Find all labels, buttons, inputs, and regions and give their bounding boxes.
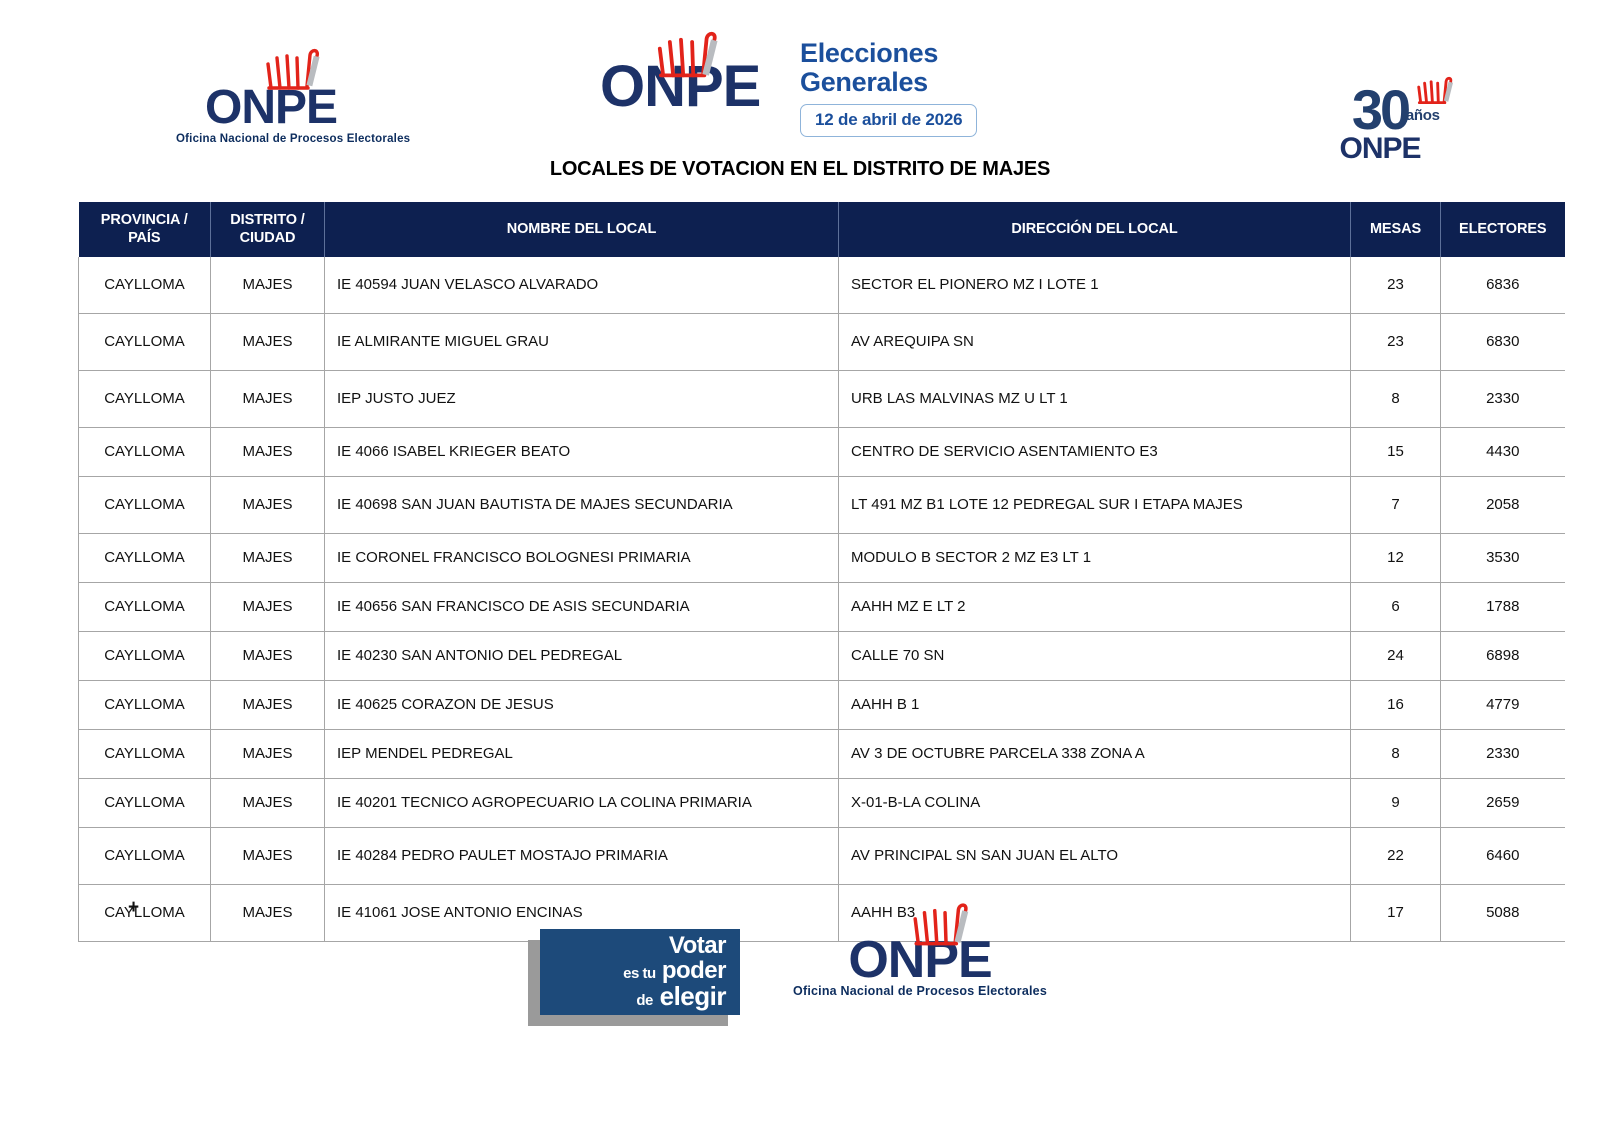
onpe-logo-text: ONPE — [205, 84, 337, 132]
slogan-block: Votar es tu poder de elegir — [540, 929, 740, 1015]
cell-provincia: CAYLLOMA — [79, 476, 211, 533]
slogan-line-2: es tu poder — [623, 959, 726, 983]
cell-mesas: 12 — [1351, 533, 1441, 582]
cell-distrito: MAJES — [211, 680, 325, 729]
cell-nombre-local: IE CORONEL FRANCISCO BOLOGNESI PRIMARIA — [325, 533, 839, 582]
cell-electores: 4430 — [1441, 427, 1565, 476]
election-info: Elecciones Generales 12 de abril de 2026 — [800, 37, 977, 137]
onpe-hand-icon — [261, 44, 331, 90]
slogan-line-3-big: elegir — [660, 981, 726, 1011]
cell-nombre-local: IE 40656 SAN FRANCISCO DE ASIS SECUNDARI… — [325, 582, 839, 631]
cell-provincia: CAYLLOMA — [79, 778, 211, 827]
cell-nombre-local: IE 40201 TECNICO AGROPECUARIO LA COLINA … — [325, 778, 839, 827]
cell-direccion-local: AV PRINCIPAL SN SAN JUAN EL ALTO — [839, 827, 1351, 884]
election-date-badge: 12 de abril de 2026 — [800, 104, 977, 137]
column-header-distrito-line2: CIUDAD — [212, 230, 323, 247]
cell-electores: 2330 — [1441, 370, 1565, 427]
onpe-wordmark-footer: ONPE — [848, 934, 991, 986]
table-row[interactable]: CAYLLOMAMAJESIE 40698 SAN JUAN BAUTISTA … — [79, 476, 1565, 533]
cell-direccion-local: CALLE 70 SN — [839, 631, 1351, 680]
onpe-30-anniversary-logo: 30 años ONPE — [1300, 82, 1460, 166]
column-header-nombre-local[interactable]: NOMBRE DEL LOCAL — [325, 202, 839, 257]
table-row[interactable]: CAYLLOMAMAJESIE 40625 CORAZON DE JESUSAA… — [79, 680, 1565, 729]
cell-mesas: 8 — [1351, 370, 1441, 427]
onpe-logo-subtitle: Oficina Nacional de Procesos Electorales — [176, 133, 366, 145]
cell-mesas: 15 — [1351, 427, 1441, 476]
cell-provincia: CAYLLOMA — [79, 370, 211, 427]
cell-mesas: 9 — [1351, 778, 1441, 827]
column-header-distrito-line1: DISTRITO / — [212, 212, 323, 229]
column-header-direccion-local[interactable]: DIRECCIÓN DEL LOCAL — [839, 202, 1351, 257]
cell-provincia: CAYLLOMA — [79, 533, 211, 582]
cell-distrito: MAJES — [211, 257, 325, 313]
cell-direccion-local: AV 3 DE OCTUBRE PARCELA 338 ZONA A — [839, 729, 1351, 778]
anniversary-number-group: 30 años — [1352, 82, 1408, 138]
cell-mesas: 16 — [1351, 680, 1441, 729]
page-header: ONPE Oficina Nacional de Procesos Electo… — [0, 0, 1600, 150]
cell-mesas: 8 — [1351, 729, 1441, 778]
onpe-hand-icon — [908, 898, 980, 946]
table-row[interactable]: CAYLLOMAMAJESIE 40656 SAN FRANCISCO DE A… — [79, 582, 1565, 631]
cell-electores: 2058 — [1441, 476, 1565, 533]
table-row[interactable]: CAYLLOMAMAJESIE 40594 JUAN VELASCO ALVAR… — [79, 257, 1565, 313]
cell-nombre-local: IE 40284 PEDRO PAULET MOSTAJO PRIMARIA — [325, 827, 839, 884]
cell-direccion-local: URB LAS MALVINAS MZ U LT 1 — [839, 370, 1351, 427]
cell-distrito: MAJES — [211, 778, 325, 827]
onpe-wordmark: ONPE — [205, 84, 337, 132]
cell-nombre-local: IE 4066 ISABEL KRIEGER BEATO — [325, 427, 839, 476]
cell-mesas: 7 — [1351, 476, 1441, 533]
cell-direccion-local: AV AREQUIPA SN — [839, 313, 1351, 370]
slogan-line-2-small: es tu — [623, 965, 656, 982]
table-header: PROVINCIA / PAÍS DISTRITO / CIUDAD NOMBR… — [79, 202, 1565, 257]
cell-distrito: MAJES — [211, 476, 325, 533]
cell-direccion-local: AAHH B 1 — [839, 680, 1351, 729]
column-header-mesas[interactable]: MESAS — [1351, 202, 1441, 257]
election-line-2: Generales — [800, 68, 977, 97]
cell-mesas: 24 — [1351, 631, 1441, 680]
cell-distrito: MAJES — [211, 533, 325, 582]
onpe-hand-icon — [652, 26, 730, 78]
cell-provincia: CAYLLOMA — [79, 313, 211, 370]
cell-provincia: CAYLLOMA — [79, 827, 211, 884]
table-header-row: PROVINCIA / PAÍS DISTRITO / CIUDAD NOMBR… — [79, 202, 1565, 257]
page-footer: Votar es tu poder de elegir ONPE — [0, 922, 1600, 1042]
cell-distrito: MAJES — [211, 729, 325, 778]
cell-provincia: CAYLLOMA — [79, 729, 211, 778]
election-line-1: Elecciones — [800, 39, 977, 68]
table-row[interactable]: CAYLLOMAMAJESIE 40284 PEDRO PAULET MOSTA… — [79, 827, 1565, 884]
onpe-logo-footer: ONPE Oficina Nacional de Procesos Electo… — [790, 934, 1050, 998]
page-title: LOCALES DE VOTACION EN EL DISTRITO DE MA… — [0, 158, 1600, 181]
cell-mesas: 6 — [1351, 582, 1441, 631]
anniversary-label: años — [1406, 108, 1440, 123]
cell-electores: 3530 — [1441, 533, 1565, 582]
anniversary-number: 30 — [1352, 82, 1408, 138]
cell-provincia: CAYLLOMA — [79, 680, 211, 729]
cell-provincia: CAYLLOMA — [79, 427, 211, 476]
cell-nombre-local: IE 40230 SAN ANTONIO DEL PEDREGAL — [325, 631, 839, 680]
cell-electores: 2659 — [1441, 778, 1565, 827]
cell-direccion-local: CENTRO DE SERVICIO ASENTAMIENTO E3 — [839, 427, 1351, 476]
cell-nombre-local: IE 40594 JUAN VELASCO ALVARADO — [325, 257, 839, 313]
slogan-line-3: de elegir — [636, 983, 726, 1010]
column-header-distrito[interactable]: DISTRITO / CIUDAD — [211, 202, 325, 257]
cell-nombre-local: IEP JUSTO JUEZ — [325, 370, 839, 427]
table-body: CAYLLOMAMAJESIE 40594 JUAN VELASCO ALVAR… — [79, 257, 1565, 941]
cell-direccion-local: SECTOR EL PIONERO MZ I LOTE 1 — [839, 257, 1351, 313]
cell-electores: 2330 — [1441, 729, 1565, 778]
table-row[interactable]: CAYLLOMAMAJESIE ALMIRANTE MIGUEL GRAUAV … — [79, 313, 1565, 370]
slogan-line-3-small: de — [636, 992, 653, 1009]
cell-nombre-local: IE 40698 SAN JUAN BAUTISTA DE MAJES SECU… — [325, 476, 839, 533]
slogan-line-2-big: poder — [662, 957, 726, 984]
cell-distrito: MAJES — [211, 631, 325, 680]
cell-mesas: 23 — [1351, 313, 1441, 370]
cell-provincia: CAYLLOMA — [79, 631, 211, 680]
voting-locations-table-wrapper: PROVINCIA / PAÍS DISTRITO / CIUDAD NOMBR… — [78, 202, 1506, 942]
cell-nombre-local: IE 40625 CORAZON DE JESUS — [325, 680, 839, 729]
table-row[interactable]: CAYLLOMAMAJESIEP MENDEL PEDREGALAV 3 DE … — [79, 729, 1565, 778]
cell-electores: 6460 — [1441, 827, 1565, 884]
cell-nombre-local: IE ALMIRANTE MIGUEL GRAU — [325, 313, 839, 370]
cell-provincia: CAYLLOMA — [79, 257, 211, 313]
column-header-provincia[interactable]: PROVINCIA / PAÍS — [79, 202, 211, 257]
cell-direccion-local: MODULO B SECTOR 2 MZ E3 LT 1 — [839, 533, 1351, 582]
slogan-line-1: Votar — [669, 934, 726, 958]
cell-distrito: MAJES — [211, 582, 325, 631]
onpe-hand-icon — [1414, 74, 1460, 104]
elections-banner: ONPE Elecciones Generales 12 de abril de… — [600, 32, 1000, 142]
table-row[interactable]: CAYLLOMAMAJESIE 4066 ISABEL KRIEGER BEAT… — [79, 427, 1565, 476]
cell-electores: 6836 — [1441, 257, 1565, 313]
cell-provincia: CAYLLOMA — [79, 582, 211, 631]
onpe-logo-left: ONPE Oficina Nacional de Procesos Electo… — [176, 84, 366, 145]
cell-electores: 4779 — [1441, 680, 1565, 729]
column-header-provincia-line1: PROVINCIA / — [80, 212, 210, 229]
cell-direccion-local: AAHH MZ E LT 2 — [839, 582, 1351, 631]
column-header-provincia-line2: PAÍS — [80, 230, 210, 247]
table-row[interactable]: CAYLLOMAMAJESIE CORONEL FRANCISCO BOLOGN… — [79, 533, 1565, 582]
voting-locations-table: PROVINCIA / PAÍS DISTRITO / CIUDAD NOMBR… — [78, 202, 1565, 942]
cell-distrito: MAJES — [211, 370, 325, 427]
table-row[interactable]: CAYLLOMAMAJESIEP JUSTO JUEZURB LAS MALVI… — [79, 370, 1565, 427]
cell-direccion-local: LT 491 MZ B1 LOTE 12 PEDREGAL SUR I ETAP… — [839, 476, 1351, 533]
cell-electores: 6898 — [1441, 631, 1565, 680]
column-header-electores[interactable]: ELECTORES — [1441, 202, 1565, 257]
cell-distrito: MAJES — [211, 313, 325, 370]
table-row[interactable]: CAYLLOMAMAJESIE 40201 TECNICO AGROPECUAR… — [79, 778, 1565, 827]
cell-electores: 6830 — [1441, 313, 1565, 370]
table-row[interactable]: CAYLLOMAMAJESIE 40230 SAN ANTONIO DEL PE… — [79, 631, 1565, 680]
cell-electores: 1788 — [1441, 582, 1565, 631]
cell-distrito: MAJES — [211, 827, 325, 884]
expand-plus-icon[interactable]: + — [128, 898, 139, 917]
cell-distrito: MAJES — [211, 427, 325, 476]
cell-nombre-local: IEP MENDEL PEDREGAL — [325, 729, 839, 778]
cell-mesas: 23 — [1351, 257, 1441, 313]
cell-direccion-local: X-01-B-LA COLINA — [839, 778, 1351, 827]
cell-mesas: 22 — [1351, 827, 1441, 884]
slogan-box: Votar es tu poder de elegir — [540, 929, 740, 1015]
onpe-wordmark-center: ONPE — [600, 58, 786, 116]
